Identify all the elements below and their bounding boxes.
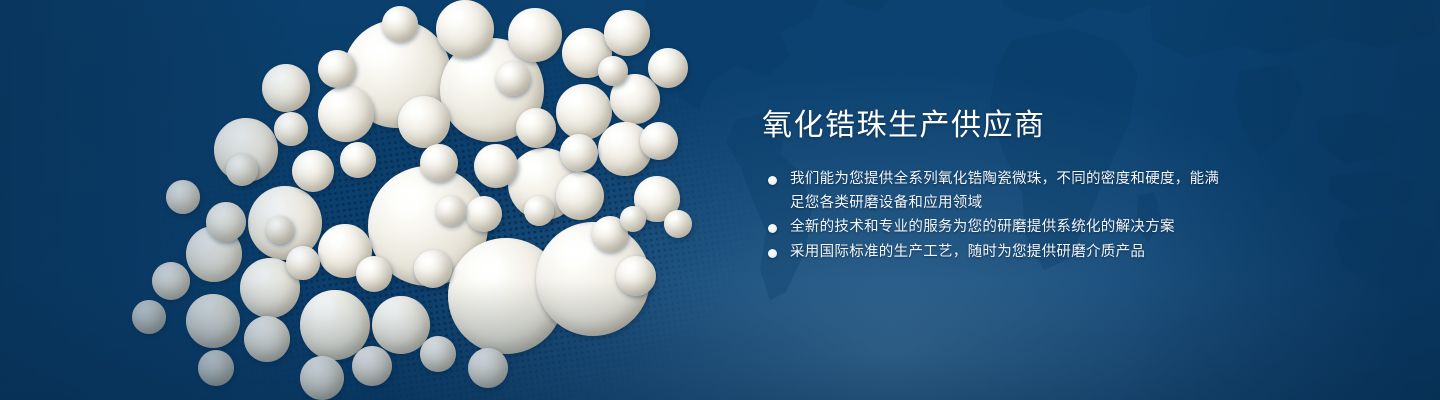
list-item: 采用国际标准的生产工艺，随时为您提供研磨介质产品: [762, 241, 1232, 265]
page-title: 氧化锆珠生产供应商: [762, 106, 1232, 146]
list-item-text: 全新的技术和专业的服务为您的研磨提供系统化的解决方案: [790, 219, 1175, 235]
list-item: 我们能为您提供全系列氧化锆陶瓷微珠，不同的密度和硬度，能满足您各类研磨设备和应用…: [762, 168, 1232, 215]
banner-content: 氧化锆珠生产供应商 我们能为您提供全系列氧化锆陶瓷微珠，不同的密度和硬度，能满足…: [762, 106, 1232, 265]
hero-banner: 氧化锆珠生产供应商 我们能为您提供全系列氧化锆陶瓷微珠，不同的密度和硬度，能满足…: [0, 0, 1440, 400]
feature-list: 我们能为您提供全系列氧化锆陶瓷微珠，不同的密度和硬度，能满足您各类研磨设备和应用…: [762, 168, 1232, 264]
bullet-dot-icon: [768, 176, 777, 185]
bullet-dot-icon: [768, 249, 777, 258]
list-item-text: 我们能为您提供全系列氧化锆陶瓷微珠，不同的密度和硬度，能满足您各类研磨设备和应用…: [790, 171, 1219, 211]
list-item-text: 采用国际标准的生产工艺，随时为您提供研磨介质产品: [790, 244, 1145, 260]
list-item: 全新的技术和专业的服务为您的研磨提供系统化的解决方案: [762, 216, 1232, 240]
bullet-dot-icon: [768, 224, 777, 233]
